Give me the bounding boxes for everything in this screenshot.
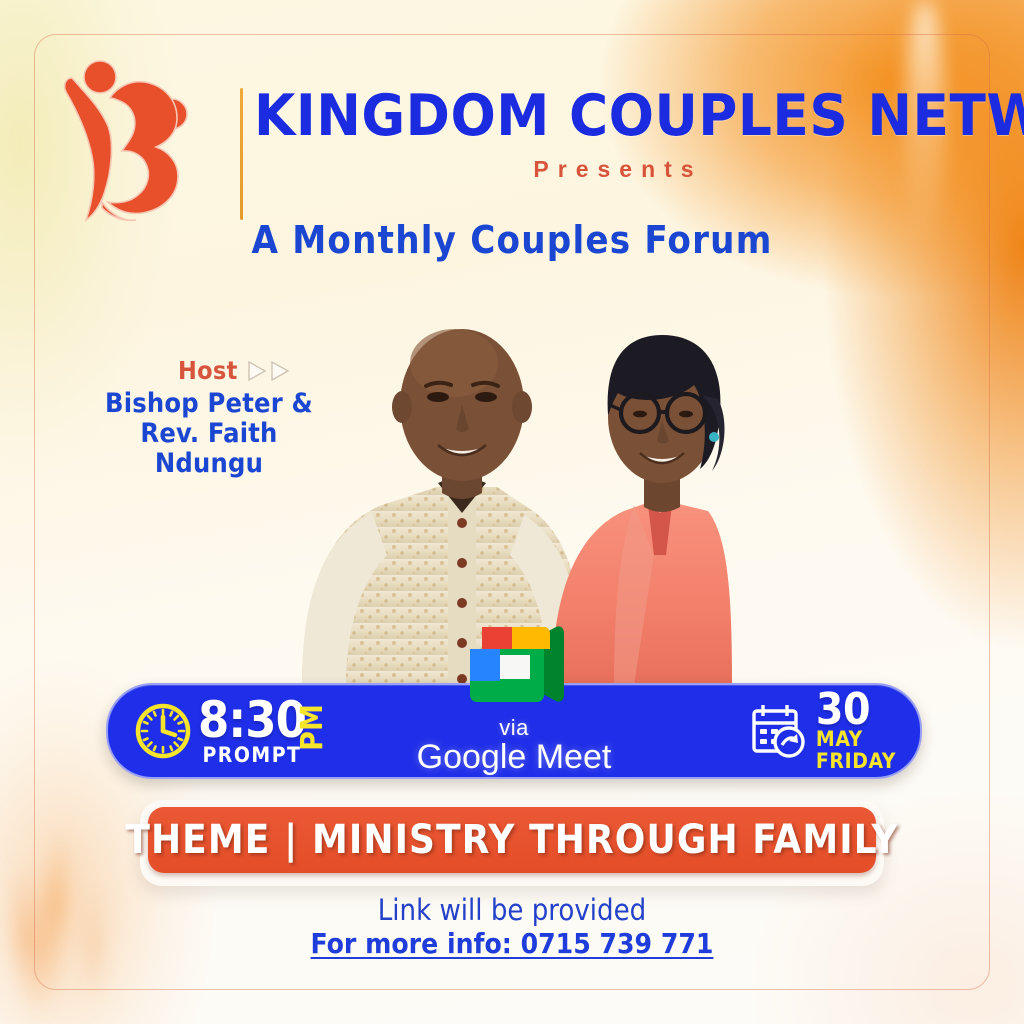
prompt-label: PROMPT xyxy=(198,743,306,767)
link-note: Link will be provided xyxy=(0,893,1024,927)
event-time: 8:30 xyxy=(198,694,306,746)
date-weekday: FRIDAY xyxy=(816,750,896,772)
theme-text: THEME | MINISTRY THROUGH FAMILY xyxy=(125,817,898,863)
host-names: Bishop Peter & Rev. Faith Ndungu xyxy=(84,389,334,480)
date-month: MAY xyxy=(816,729,896,750)
event-details-bar: 8:30 PROMPT PM xyxy=(106,683,922,779)
time-text: 8:30 PROMPT PM xyxy=(198,694,306,768)
host-label: Host xyxy=(178,356,238,385)
theme-banner-inner: THEME | MINISTRY THROUGH FAMILY xyxy=(148,807,876,873)
meridiem-label: PM xyxy=(295,704,330,751)
host-block: Host Bishop Peter & Rev. Faith Ndungu xyxy=(84,356,334,480)
couple-heart-logo-icon xyxy=(52,52,222,222)
host-name-line-1: Bishop Peter & xyxy=(84,389,334,419)
contact-info[interactable]: For more info: 0715 739 771 xyxy=(0,927,1024,960)
theme-banner: THEME | MINISTRY THROUGH FAMILY xyxy=(140,800,884,886)
date-number: 30 xyxy=(816,691,896,729)
brand-title: KINGDOM COUPLES NETWORK xyxy=(254,88,982,145)
date-group: 30 MAY FRIDAY xyxy=(748,694,896,768)
clock-icon xyxy=(134,702,192,760)
google-meet-icon xyxy=(460,615,568,713)
platform-via-label: via xyxy=(354,717,674,739)
header: KINGDOM COUPLES NETWORK Presents xyxy=(0,36,1024,196)
presents-label: Presents xyxy=(268,156,968,183)
date-text: 30 MAY FRIDAY xyxy=(816,691,896,772)
platform-name-label: Google Meet xyxy=(354,739,674,776)
footer: Link will be provided For more info: 071… xyxy=(0,893,1024,960)
double-chevron-right-icon xyxy=(246,359,291,383)
header-divider xyxy=(240,88,243,220)
platform-group: via Google Meet xyxy=(354,615,674,776)
calendar-arrow-icon xyxy=(748,701,810,761)
host-name-line-2: Rev. Faith Ndungu xyxy=(84,419,334,479)
time-group: 8:30 PROMPT PM xyxy=(134,693,306,769)
host-label-row: Host xyxy=(84,356,334,385)
event-flyer: KINGDOM COUPLES NETWORK Presents A Month… xyxy=(0,0,1024,1024)
